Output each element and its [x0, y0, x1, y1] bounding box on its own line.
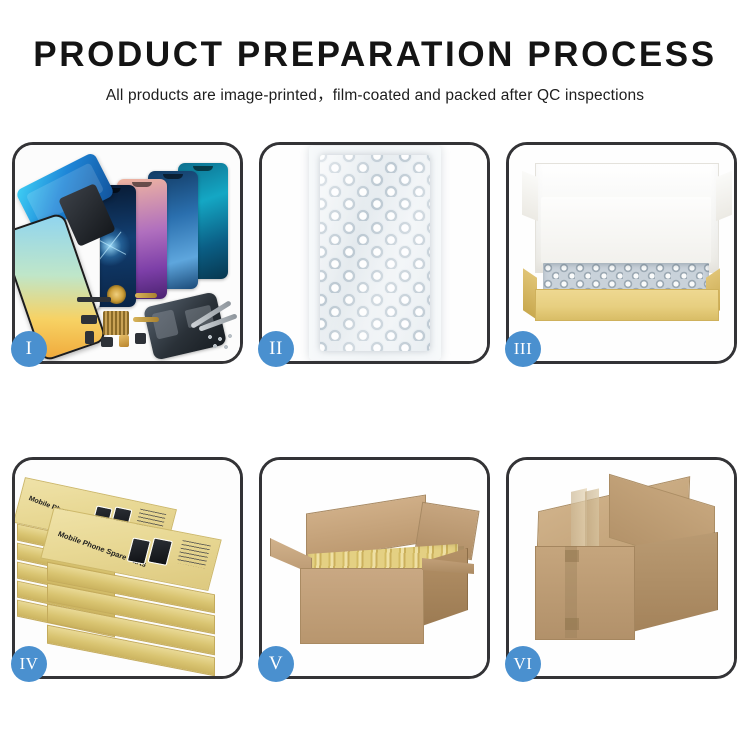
- bubble-wrap-scene: [262, 145, 487, 361]
- bubble-wrapped-item-icon: [543, 263, 709, 291]
- bracket-part-icon: [77, 297, 111, 302]
- step-3-image: [509, 145, 734, 361]
- open-carton-scene: [262, 460, 487, 676]
- page-title: PRODUCT PREPARATION PROCESS: [0, 34, 750, 76]
- process-step-panel-2: II: [259, 142, 490, 364]
- step-1-image: [15, 145, 240, 361]
- small-chip-icon: [101, 337, 113, 347]
- carton-tab: [565, 550, 579, 562]
- flex-cable-icon: [133, 317, 159, 322]
- phone-parts-scene: [15, 145, 240, 361]
- flex-cable-icon: [135, 293, 157, 298]
- step-6-image: [509, 460, 734, 676]
- step-badge-5: V: [258, 646, 294, 682]
- process-step-panel-5: V: [259, 457, 490, 679]
- page-header: PRODUCT PREPARATION PROCESS All products…: [0, 0, 750, 105]
- ic-grid-part-icon: [103, 311, 129, 335]
- small-chip-icon: [81, 315, 97, 324]
- bubble-wrap-icon: [320, 155, 430, 351]
- page-subtitle: All products are image-printed，film-coat…: [0, 83, 750, 105]
- carton-front-face: [535, 546, 635, 640]
- foam-sheet-icon: [541, 197, 711, 263]
- process-step-panel-1: I: [12, 142, 243, 364]
- notch-icon: [193, 166, 213, 171]
- gold-connector-icon: [119, 335, 129, 347]
- carton-front-face: [300, 568, 424, 644]
- process-step-panel-3: III: [506, 142, 737, 364]
- process-step-panel-4: Mobile Phone Spare Parts Mobile Phone Sp…: [12, 457, 243, 679]
- box-front-wall: [535, 289, 719, 321]
- step-5-image: [262, 460, 487, 676]
- step-badge-1: I: [11, 331, 47, 367]
- stacked-boxes-scene: Mobile Phone Spare Parts Mobile Phone Sp…: [15, 460, 240, 676]
- process-step-grid: I II III: [12, 142, 738, 679]
- inner-box-scene: [509, 145, 734, 361]
- screws-icon: [206, 333, 236, 351]
- box-phone-graphic: [148, 537, 173, 565]
- carton-side-face: [632, 532, 718, 632]
- step-badge-3: III: [505, 331, 541, 367]
- step-badge-4: IV: [11, 646, 47, 682]
- small-chip-icon: [135, 333, 146, 344]
- box-spec-lines: [177, 540, 211, 568]
- process-step-panel-6: VI: [506, 457, 737, 679]
- step-2-image: [262, 145, 487, 361]
- step-4-image: Mobile Phone Spare Parts Mobile Phone Sp…: [15, 460, 240, 676]
- step-badge-6: VI: [505, 646, 541, 682]
- sealed-carton-scene: [509, 460, 734, 676]
- small-chip-icon: [85, 331, 94, 344]
- step-badge-2: II: [258, 331, 294, 367]
- notch-icon: [163, 174, 183, 179]
- carton-tab: [565, 618, 579, 630]
- notch-icon: [132, 182, 152, 187]
